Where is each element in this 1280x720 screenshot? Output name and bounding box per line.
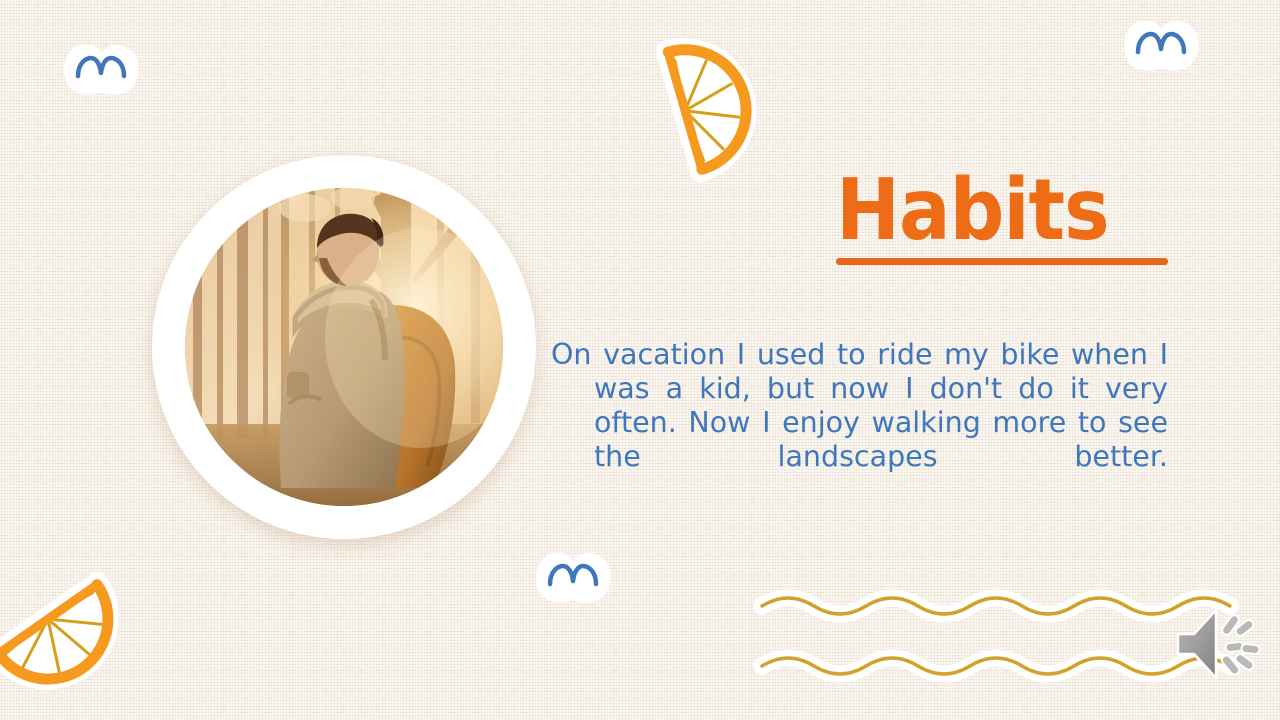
orange-slice-icon: [648, 28, 776, 178]
title-underline-rule: [836, 258, 1168, 265]
audio-speaker-icon[interactable]: [1174, 604, 1274, 684]
orange-slice-icon: [0, 562, 134, 720]
cloud-doodle-icon: [530, 550, 616, 606]
cloud-doodle-icon: [58, 42, 144, 98]
hiker-photo: [185, 188, 503, 506]
presentation-slide: Habits On vacation I used to ride my bik…: [0, 0, 1280, 720]
slide-title: Habits: [836, 168, 1176, 253]
photo-circle-frame[interactable]: [152, 155, 536, 539]
slide-body-text: On vacation I used to ride my bike when …: [594, 338, 1168, 508]
cloud-doodle-icon: [1118, 18, 1204, 74]
